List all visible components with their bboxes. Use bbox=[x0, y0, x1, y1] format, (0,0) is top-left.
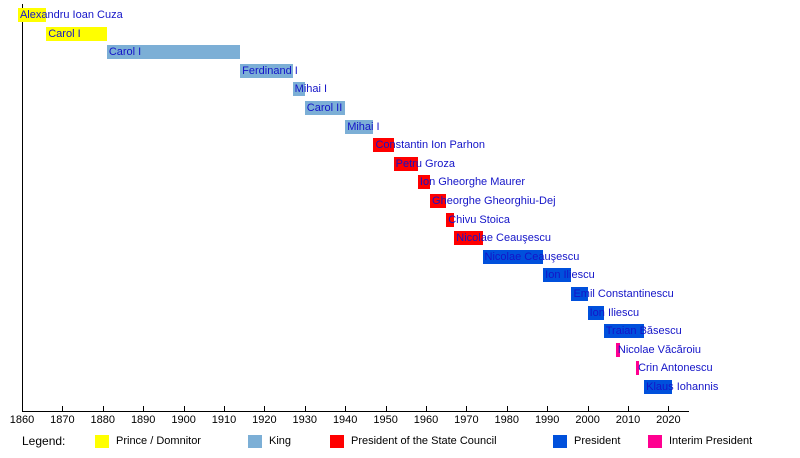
x-axis-tick bbox=[143, 406, 144, 411]
legend-item-label: Prince / Domnitor bbox=[116, 434, 201, 448]
x-axis-tick-label: 2020 bbox=[648, 414, 688, 426]
timeline-bar[interactable] bbox=[644, 380, 672, 394]
x-axis-tick bbox=[305, 406, 306, 411]
x-axis-tick-label: 1990 bbox=[527, 414, 567, 426]
timeline-bar[interactable] bbox=[446, 213, 454, 227]
legend-color-swatch bbox=[648, 435, 662, 448]
timeline-bar[interactable] bbox=[345, 120, 373, 134]
timeline-bar[interactable] bbox=[604, 324, 644, 338]
timeline-bar[interactable] bbox=[293, 82, 305, 96]
timeline-bar-label: Ion Gheorghe Maurer bbox=[420, 175, 525, 189]
timeline-bar[interactable] bbox=[454, 231, 482, 245]
timeline-bar[interactable] bbox=[543, 268, 571, 282]
legend-item-label: President of the State Council bbox=[351, 434, 497, 448]
legend-color-swatch bbox=[248, 435, 262, 448]
timeline-bar-label: Chivu Stoica bbox=[448, 213, 510, 227]
timeline-bar[interactable] bbox=[240, 64, 293, 78]
x-axis-tick bbox=[386, 406, 387, 411]
x-axis-tick bbox=[668, 406, 669, 411]
timeline-bar-label: Nicolae Văcăroiu bbox=[618, 343, 701, 357]
x-axis-tick-label: 2000 bbox=[568, 414, 608, 426]
x-axis-tick-label: 1980 bbox=[487, 414, 527, 426]
timeline-bar[interactable] bbox=[616, 343, 620, 357]
x-axis-tick-label: 2010 bbox=[608, 414, 648, 426]
x-axis-tick-label: 1970 bbox=[446, 414, 486, 426]
x-axis-tick-label: 1860 bbox=[2, 414, 42, 426]
x-axis-line bbox=[22, 411, 689, 412]
plot-area: 1860187018801890190019101920193019401950… bbox=[0, 0, 800, 412]
x-axis-tick bbox=[466, 406, 467, 411]
x-axis-tick-label: 1880 bbox=[83, 414, 123, 426]
timeline-bar-label: Crin Antonescu bbox=[638, 361, 713, 375]
legend-title: Legend: bbox=[22, 434, 65, 448]
timeline-chart: 1860187018801890190019101920193019401950… bbox=[0, 0, 800, 458]
timeline-bar[interactable] bbox=[636, 361, 639, 375]
timeline-bar[interactable] bbox=[373, 138, 393, 152]
legend-color-swatch bbox=[95, 435, 109, 448]
timeline-bar[interactable] bbox=[107, 45, 240, 59]
timeline-bar-label: Gheorghe Gheorghiu-Dej bbox=[432, 194, 556, 208]
timeline-bar[interactable] bbox=[430, 194, 446, 208]
timeline-bar[interactable] bbox=[483, 250, 544, 264]
timeline-bar[interactable] bbox=[394, 157, 418, 171]
x-axis-tick-label: 1910 bbox=[204, 414, 244, 426]
x-axis-tick bbox=[224, 406, 225, 411]
x-axis-tick-label: 1930 bbox=[285, 414, 325, 426]
timeline-bar[interactable] bbox=[571, 287, 587, 301]
x-axis-tick bbox=[345, 406, 346, 411]
x-axis-tick bbox=[103, 406, 104, 411]
x-axis-tick bbox=[264, 406, 265, 411]
x-axis-tick bbox=[507, 406, 508, 411]
x-axis-tick-label: 1950 bbox=[366, 414, 406, 426]
timeline-bar[interactable] bbox=[588, 306, 604, 320]
x-axis-tick-label: 1890 bbox=[123, 414, 163, 426]
x-axis-tick-label: 1940 bbox=[325, 414, 365, 426]
x-axis-tick bbox=[588, 406, 589, 411]
legend-color-swatch bbox=[553, 435, 567, 448]
timeline-bar-label: Emil Constantinescu bbox=[573, 287, 673, 301]
timeline-bar[interactable] bbox=[46, 27, 107, 41]
x-axis-tick-label: 1960 bbox=[406, 414, 446, 426]
legend-item-label: Interim President bbox=[669, 434, 752, 448]
timeline-bar[interactable] bbox=[18, 8, 46, 22]
x-axis-tick bbox=[426, 406, 427, 411]
legend-item-label: King bbox=[269, 434, 291, 448]
x-axis-tick bbox=[184, 406, 185, 411]
x-axis-tick-label: 1900 bbox=[164, 414, 204, 426]
x-axis-tick bbox=[22, 406, 23, 411]
legend-color-swatch bbox=[330, 435, 344, 448]
x-axis-tick-label: 1870 bbox=[42, 414, 82, 426]
timeline-bar[interactable] bbox=[305, 101, 345, 115]
x-axis-tick bbox=[62, 406, 63, 411]
x-axis-tick bbox=[547, 406, 548, 411]
legend-item-label: President bbox=[574, 434, 620, 448]
timeline-bar[interactable] bbox=[418, 175, 430, 189]
x-axis-tick-label: 1920 bbox=[244, 414, 284, 426]
x-axis-tick bbox=[628, 406, 629, 411]
legend: Legend: Prince / DomnitorKingPresident o… bbox=[0, 428, 800, 458]
y-axis-line bbox=[22, 4, 23, 411]
